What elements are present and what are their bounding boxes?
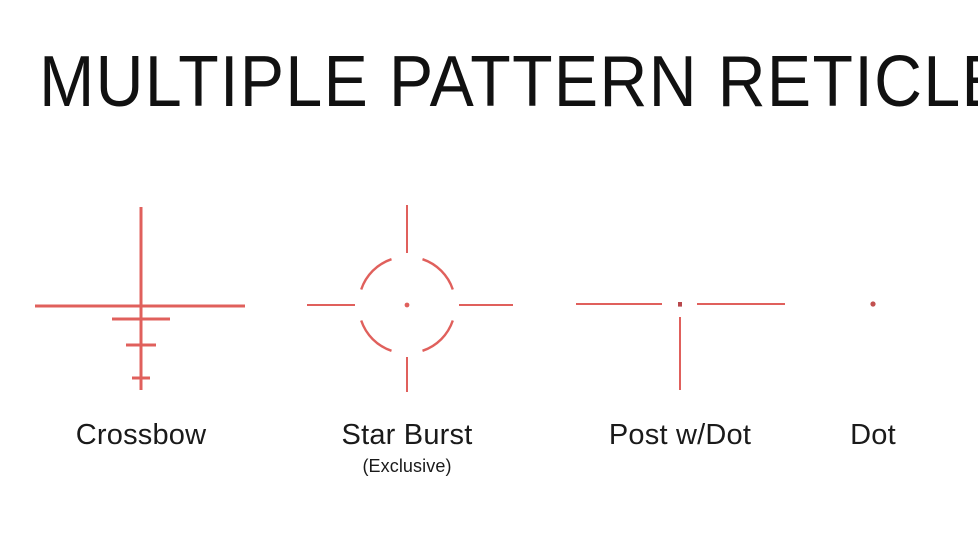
dot-reticle-graphic (800, 190, 950, 405)
reticle-caption-star-burst: Star Burst (Exclusive) (307, 418, 507, 478)
reticle-slide: MULTIPLE PATTERN RETICLES (0, 0, 978, 550)
caption-title-crossbow: Crossbow (41, 418, 241, 452)
post-w-dot-center-dot (678, 302, 682, 307)
reticle-dot[interactable] (800, 190, 950, 405)
star-burst-arc-sw (361, 321, 391, 351)
reticle-star-burst[interactable] (292, 190, 522, 405)
reticle-crossbow[interactable] (18, 190, 268, 405)
star-burst-arc-nw (361, 259, 391, 289)
reticle-post-w-dot[interactable] (560, 190, 800, 405)
caption-title-star-burst: Star Burst (307, 418, 507, 452)
star-burst-arc-ne (423, 259, 453, 289)
reticle-caption-dot: Dot (808, 418, 938, 452)
star-burst-reticle-graphic (292, 190, 522, 405)
caption-subtitle-star-burst: (Exclusive) (307, 454, 507, 478)
star-burst-arc-se (423, 321, 453, 351)
caption-title-post-w-dot: Post w/Dot (580, 418, 780, 452)
reticle-caption-crossbow: Crossbow (41, 418, 241, 452)
crossbow-reticle-graphic (18, 190, 268, 405)
post-w-dot-reticle-graphic (560, 190, 800, 405)
reticle-caption-post-w-dot: Post w/Dot (580, 418, 780, 452)
caption-title-dot: Dot (808, 418, 938, 452)
dot-center-dot (870, 301, 875, 306)
star-burst-center-dot (405, 303, 410, 308)
